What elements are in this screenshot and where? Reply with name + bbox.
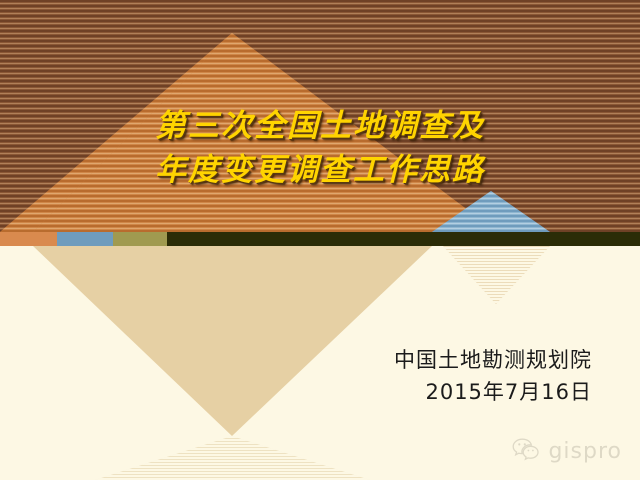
color-strip-segment-blue	[57, 232, 113, 246]
color-strip	[0, 232, 640, 246]
watermark: gispro	[512, 437, 622, 466]
author-block: 中国土地勘测规划院 2015年7月16日	[394, 344, 592, 408]
author-organization: 中国土地勘测规划院	[394, 344, 592, 376]
presentation-date: 2015年7月16日	[394, 376, 592, 408]
color-strip-segment-olive	[113, 232, 167, 246]
color-strip-segment-dark	[167, 232, 640, 246]
wechat-icon	[512, 437, 542, 466]
color-strip-segment-orange	[0, 232, 57, 246]
slide-canvas: 第三次全国土地调查及 年度变更调查工作思路 中国土地勘测规划院 2015年7月1…	[0, 0, 640, 480]
watermark-label: gispro	[548, 439, 622, 464]
